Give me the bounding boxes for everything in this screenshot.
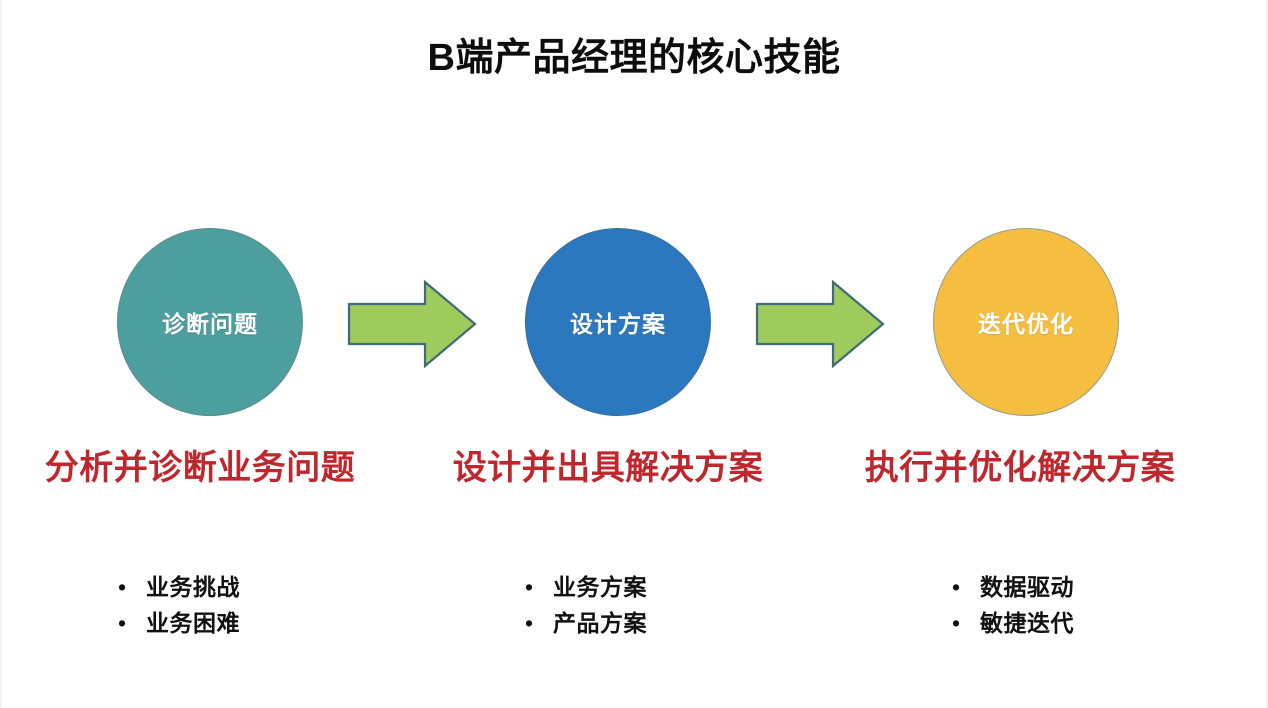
flow-node-label: 诊断问题 [162, 305, 258, 339]
column-heading-1: 分析并诊断业务问题 [0, 448, 410, 489]
flow-node-iterate[interactable]: 迭代优化 [933, 228, 1119, 416]
list-item: • 敏捷迭代 [952, 609, 1212, 638]
list-item: • 业务困难 [118, 609, 378, 638]
bullet-columns: • 业务挑战 • 业务困难 • 业务方案 • 产品方案 • 数据驱动 [0, 573, 1268, 663]
arrow-right-icon-1 [347, 278, 477, 370]
bullet-dot-icon: • [952, 576, 980, 599]
list-item-label: 业务挑战 [146, 573, 240, 602]
list-item: • 业务方案 [525, 573, 785, 602]
column-headings: 分析并诊断业务问题 设计并出具解决方案 执行并优化解决方案 [0, 448, 1268, 508]
bullet-list-3: • 数据驱动 • 敏捷迭代 [952, 573, 1212, 645]
bullet-dot-icon: • [952, 612, 980, 635]
list-item: • 产品方案 [525, 609, 785, 638]
flow-node-label: 迭代优化 [978, 305, 1074, 339]
bullet-dot-icon: • [118, 612, 146, 635]
slide-canvas: B端产品经理的核心技能 诊断问题 设计方案 迭代优化 分析并诊断业务问题 设计并… [0, 0, 1268, 708]
bullet-dot-icon: • [118, 576, 146, 599]
page-title: B端产品经理的核心技能 [0, 38, 1268, 80]
bullet-list-2: • 业务方案 • 产品方案 [525, 573, 785, 645]
flow-node-label: 设计方案 [570, 305, 666, 339]
list-item-label: 业务方案 [553, 573, 647, 602]
column-heading-2: 设计并出具解决方案 [398, 448, 818, 489]
list-item-label: 业务困难 [146, 609, 240, 638]
list-item: • 数据驱动 [952, 573, 1212, 602]
bullet-list-1: • 业务挑战 • 业务困难 [118, 573, 378, 645]
flow-node-design[interactable]: 设计方案 [525, 228, 711, 416]
flow-node-diagnose[interactable]: 诊断问题 [117, 228, 303, 416]
arrow-right-icon-2 [755, 278, 885, 370]
list-item-label: 数据驱动 [980, 573, 1074, 602]
column-heading-3: 执行并优化解决方案 [810, 448, 1230, 489]
process-flow-diagram: 诊断问题 设计方案 迭代优化 [0, 228, 1268, 418]
bullet-dot-icon: • [525, 612, 553, 635]
bullet-dot-icon: • [525, 576, 553, 599]
list-item-label: 产品方案 [553, 609, 647, 638]
list-item: • 业务挑战 [118, 573, 378, 602]
list-item-label: 敏捷迭代 [980, 609, 1074, 638]
